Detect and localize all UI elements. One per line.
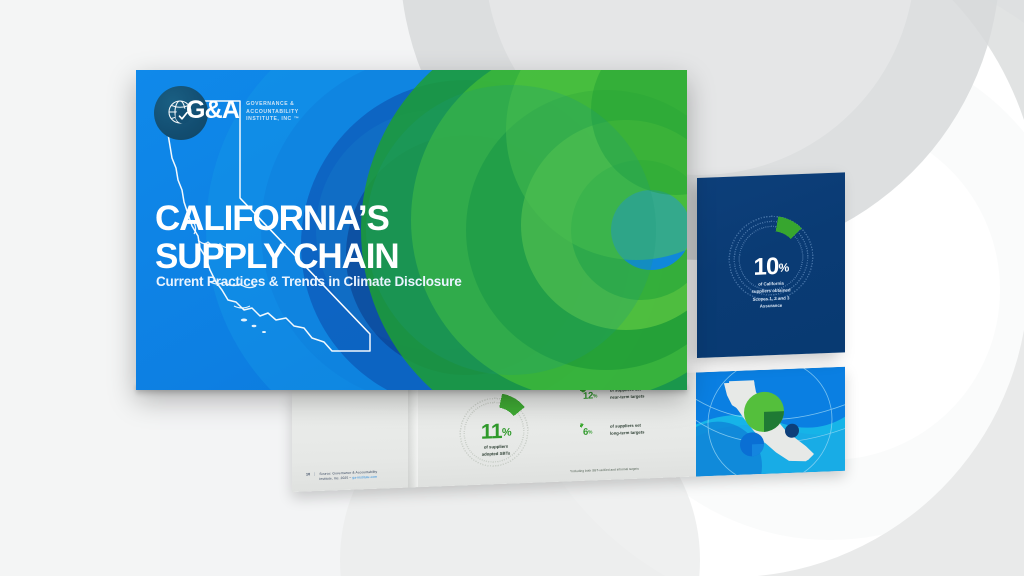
footnote: *Including both SBT-verified and informa… [570,467,639,474]
report-cover: G&A GOVERNANCE &ACCOUNTABILITYINSTITUTE,… [136,70,687,390]
stat-10-caption: of Californiasuppliers obtainedScopes 1,… [727,278,815,310]
mini-stat-caption: of suppliers setlong-term targets [610,423,644,438]
california-map-panel [696,367,845,477]
california-map-graphic [696,367,845,477]
source-credit: Source: Governance & Accountability Inst… [319,470,377,482]
percent-symbol: % [502,427,511,439]
footer-divider: | [314,473,315,477]
spread-gutter [408,383,418,487]
spread-footer: 10 | Source: Governance & Accountability… [306,470,377,482]
source-url[interactable]: ga-institute.com [352,475,377,480]
stat-card-10-percent: 10% of Californiasuppliers obtainedScope… [697,172,845,358]
logo-subtitle: GOVERNANCE &ACCOUNTABILITYINSTITUTE, INC… [246,98,299,124]
source-line-2: Institute, Inc. 2025 – [319,476,351,481]
stat-10-value: 10% [697,250,845,284]
donut-arc-6 [570,423,588,442]
percent-symbol: % [588,429,592,435]
title-line-1: CALIFORNIA’S [155,199,389,238]
title-line-2: SUPPLY CHAIN [155,237,399,276]
logo-name: G&A [186,98,239,123]
stat-11-percent: 11% of suppliersadopted SBTs [438,384,554,480]
page-number: 10 [306,473,310,478]
page-title: CALIFORNIA’S SUPPLY CHAIN [155,200,399,276]
percent-symbol: % [779,260,789,274]
logo-wordmark: G&A GOVERNANCE &ACCOUNTABILITYINSTITUTE,… [186,98,299,124]
page-subtitle: Current Practices & Trends in Climate Di… [156,274,462,289]
